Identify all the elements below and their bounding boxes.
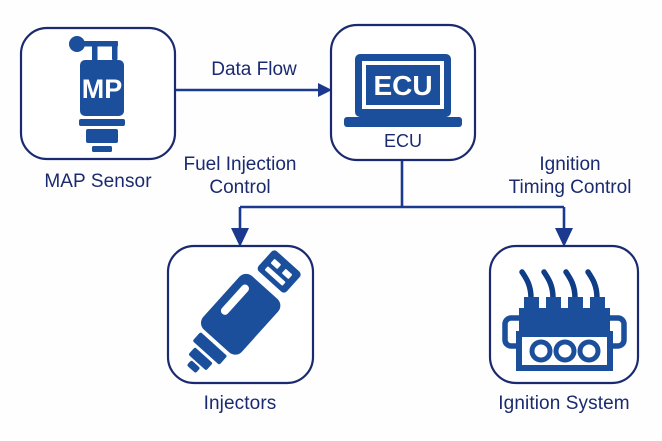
node-label-injectors: Injectors xyxy=(166,392,314,415)
diagram-canvas: MP ECU xyxy=(0,0,662,441)
edge-label-fuel-injection-control-line-1: Fuel Injection xyxy=(163,153,317,176)
node-label-ecu: ECU xyxy=(331,131,475,152)
edge-label-ignition-timing-control-line-2: Timing Control xyxy=(490,176,650,199)
edge-label-ignition-timing-control: Ignition Timing Control xyxy=(490,153,650,199)
svg-text:MP: MP xyxy=(82,74,123,104)
diagram-graphics: MP ECU xyxy=(0,0,662,441)
edge-label-fuel-injection-control: Fuel Injection Control xyxy=(163,153,317,199)
svg-text:ECU: ECU xyxy=(373,70,432,101)
connector-data-flow xyxy=(176,83,332,97)
laptop-ecu-icon: ECU xyxy=(344,54,462,127)
node-label-ignition-system: Ignition System xyxy=(486,392,642,415)
connector-ignition-timing-control xyxy=(555,207,573,247)
edge-label-data-flow-line-1: Data Flow xyxy=(180,58,328,81)
edge-label-fuel-injection-control-line-2: Control xyxy=(163,176,317,199)
edge-label-ignition-timing-control-line-1: Ignition xyxy=(490,153,650,176)
connector-fuel-injection-control xyxy=(231,207,249,247)
edge-label-data-flow: Data Flow xyxy=(180,58,328,81)
